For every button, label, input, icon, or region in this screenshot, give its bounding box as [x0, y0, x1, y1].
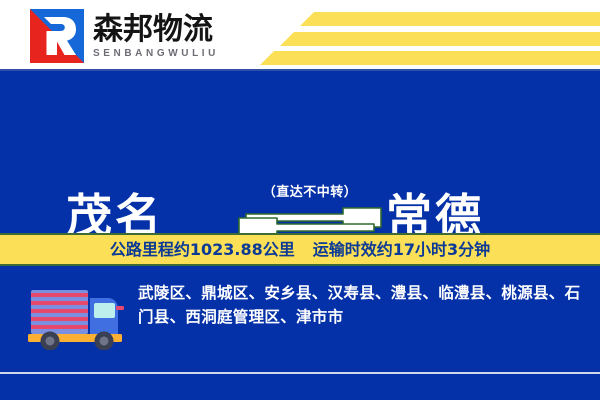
footer-strip [0, 374, 600, 400]
brand-name-cn: 森邦物流 [93, 14, 219, 46]
delivery-truck-icon [22, 284, 128, 350]
header-divider [0, 69, 600, 71]
coverage-section: 武陵区、鼎城区、安乡县、汉寿县、澧县、临澧县、桃源县、石门县、西洞庭管理区、津市… [0, 266, 600, 373]
route-info-bar: 公路里程约1023.88公里 运输时效约17小时3分钟 [0, 233, 600, 266]
route-section: 茂名 （直达不中转） 【往返运输】 常德 [0, 71, 600, 233]
coverage-districts-text: 武陵区、鼎城区、安乡县、汉寿县、澧县、临澧县、桃源县、石门县、西洞庭管理区、津市… [138, 282, 584, 329]
duration-text: 运输时效约17小时3分钟 [313, 242, 490, 258]
header-stripe-3 [260, 51, 600, 65]
logistics-route-banner: 森邦物流 SENBANGWULIU 茂名 （直达不中转） 【往返运输】 常德 公… [0, 0, 600, 400]
direct-shipping-note: （直达不中转） [236, 186, 384, 199]
header-stripe-1 [300, 12, 600, 26]
brand-name-en: SENBANGWULIU [93, 47, 219, 60]
brand-lockup: 森邦物流 SENBANGWULIU [30, 8, 219, 64]
header-stripe-decoration [220, 0, 600, 71]
banner-header: 森邦物流 SENBANGWULIU [0, 0, 600, 71]
company-logo-icon [30, 9, 84, 63]
header-stripe-2 [280, 32, 600, 46]
distance-text: 公路里程约1023.88公里 [110, 242, 295, 258]
brand-text-block: 森邦物流 SENBANGWULIU [93, 12, 219, 61]
